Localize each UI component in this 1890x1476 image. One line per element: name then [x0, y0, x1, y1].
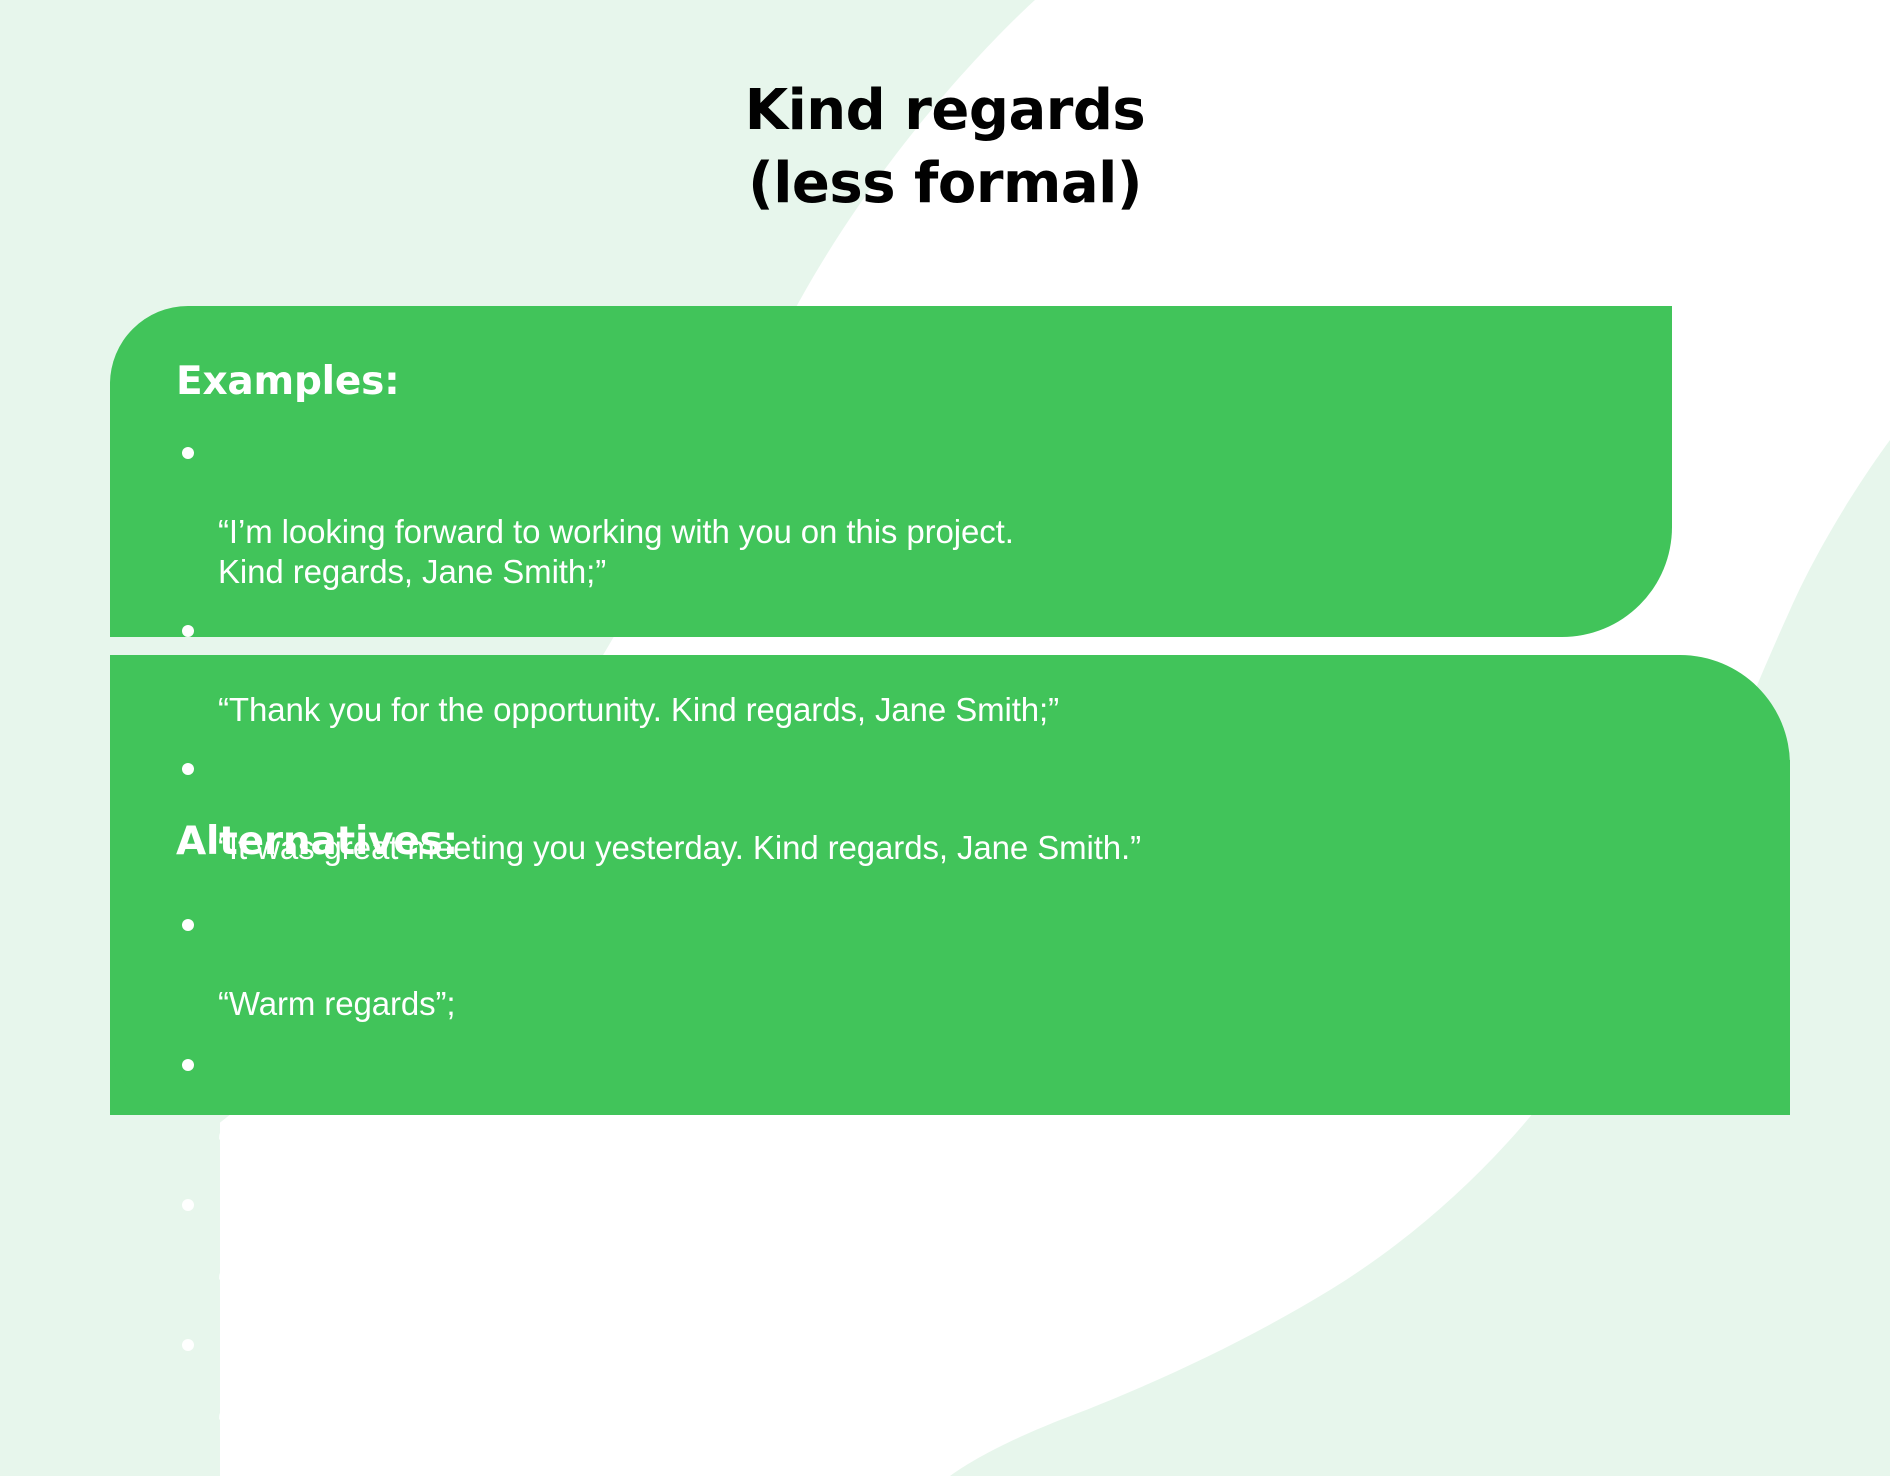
examples-list: “I’m looking forward to working with you… [176, 432, 1696, 868]
page-title-line-1: Kind regards [0, 74, 1890, 147]
list-item-text: “I’m looking forward to working with you… [218, 513, 1014, 590]
infographic-canvas: Kind regards (less formal) Examples: “I’… [0, 0, 1890, 1476]
bullet-dot-icon [182, 447, 194, 459]
alternatives-card-content: Alternatives: “Warm regards”; “Thanks”; … [176, 820, 1696, 1476]
list-item-text: “Best wishes”; [218, 1405, 424, 1442]
bullet-dot-icon [182, 1339, 194, 1351]
page-title: Kind regards (less formal) [0, 74, 1890, 220]
list-item-text: “Warm regards”; [218, 985, 455, 1022]
list-item: “Thank you for the opportunity. Kind reg… [176, 610, 1696, 730]
list-item-text: “Thank you for the opportunity. Kind reg… [218, 691, 1059, 728]
list-item: “I’m looking forward to working with you… [176, 432, 1696, 592]
list-item: “Best wishes”; [176, 1324, 1696, 1444]
list-item: “Warm regards”; [176, 904, 1696, 1024]
list-item: “Thanks”; [176, 1044, 1696, 1164]
examples-card-content: Examples: “I’m looking forward to workin… [176, 360, 1696, 868]
alternatives-heading: Alternatives: [176, 820, 1696, 864]
bullet-dot-icon [182, 763, 194, 775]
list-item: “Cheers”; [176, 1184, 1696, 1304]
examples-heading: Examples: [176, 360, 1696, 404]
page-title-line-2: (less formal) [0, 147, 1890, 220]
list-item: “With gratitude.” [176, 1464, 1696, 1476]
list-item-text: “Thanks”; [218, 1125, 356, 1162]
bullet-dot-icon [182, 1199, 194, 1211]
bullet-dot-icon [182, 1059, 194, 1071]
list-item-text: “Cheers”; [218, 1265, 355, 1302]
bullet-dot-icon [182, 625, 194, 637]
bullet-dot-icon [182, 919, 194, 931]
alternatives-list: “Warm regards”; “Thanks”; “Cheers”; “Bes… [176, 904, 1696, 1476]
